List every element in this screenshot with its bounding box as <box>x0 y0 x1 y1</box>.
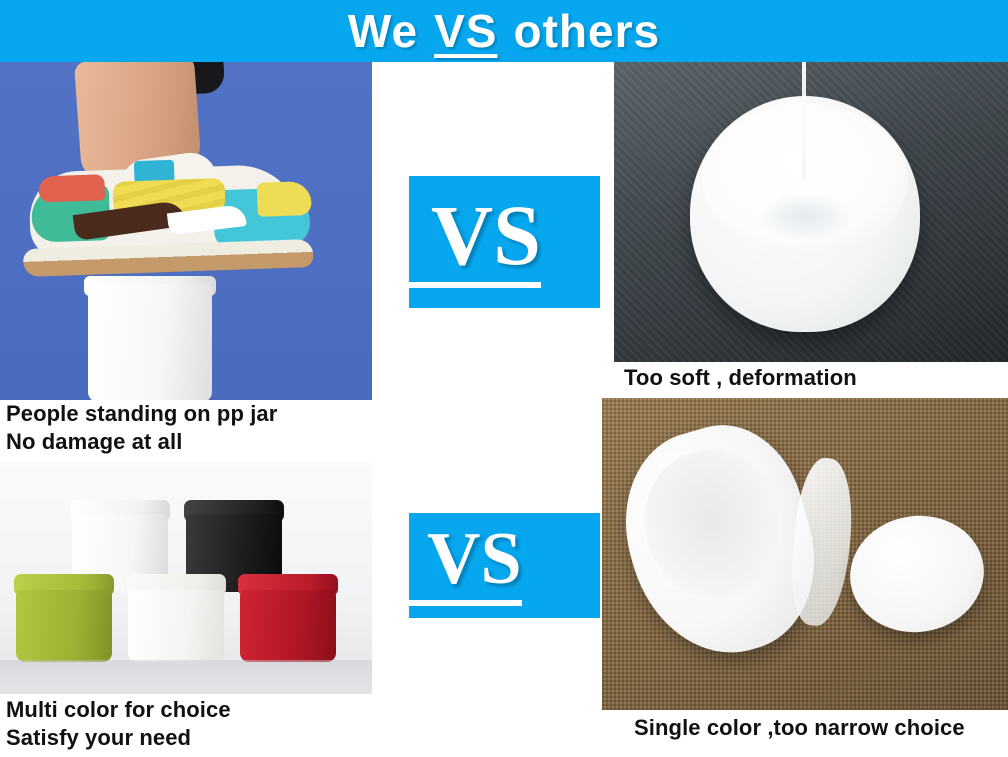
vs-badge-top-label: VS <box>409 196 541 287</box>
white-jar-mouth <box>627 433 799 615</box>
white-jar-inner-liner <box>785 456 858 629</box>
caption-ours-variety: Multi color for choice Satisfy your need <box>6 696 386 752</box>
caption-theirs-weakness: Too soft , deformation <box>624 364 1004 392</box>
title-vs: VS <box>434 4 497 58</box>
caption-theirs-limited: Single color ,too narrow choice <box>634 714 1008 742</box>
pp-jar-body <box>88 284 212 400</box>
jar-body-frosted <box>128 590 224 662</box>
sneaker-collar <box>38 174 105 202</box>
vs-badge-top: VS <box>409 176 600 308</box>
vs-badge-bottom: VS <box>409 513 600 618</box>
title-we: We <box>348 4 418 58</box>
sneaker-shape <box>16 153 320 293</box>
photo-soft-cream-in-dish <box>614 62 1008 362</box>
caption-ours-strength: People standing on pp jar No damage at a… <box>6 400 386 456</box>
jar-body-green <box>16 590 112 662</box>
title-others: others <box>513 4 660 58</box>
sneaker-toe-accent <box>257 181 312 217</box>
photo-multi-color-jars <box>0 462 372 694</box>
white-jar-lid <box>843 507 992 641</box>
photo-foot-on-pp-jar <box>0 62 372 400</box>
shelf-reflection <box>0 660 372 694</box>
cream-pour-stream <box>802 62 806 180</box>
comparison-infographic: We VS others People standing on pp jar N… <box>0 0 1008 757</box>
photo-single-white-jar <box>602 398 1008 710</box>
cream-swirl <box>758 192 854 242</box>
page-title: We VS others <box>0 0 1008 62</box>
jar-body-red <box>240 590 336 662</box>
vs-badge-bottom-label: VS <box>409 525 522 605</box>
